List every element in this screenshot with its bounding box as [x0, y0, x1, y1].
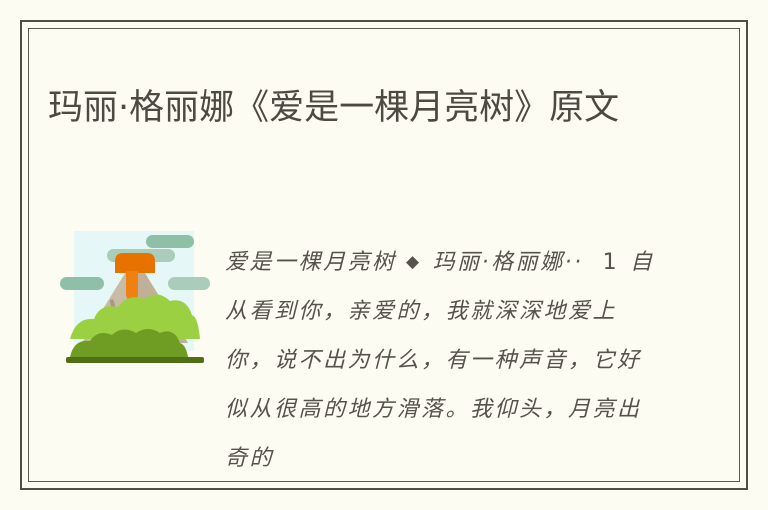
article-card: 爱是一棵月亮树 ◆ 玛丽·格丽娜·· 1 自从看到你，亲爱的，我就深深地爱上你，…	[29, 192, 739, 481]
volcano-illustration-icon	[60, 221, 210, 371]
article-author: 玛丽·格丽娜	[433, 250, 565, 275]
page-content: 玛丽·格丽娜《爱是一棵月亮树》原文	[29, 29, 739, 481]
diamond-separator-icon: ◆	[406, 252, 423, 272]
article-heading: 爱是一棵月亮树	[225, 250, 397, 275]
article-excerpt: 爱是一棵月亮树 ◆ 玛丽·格丽娜·· 1 自从看到你，亲爱的，我就深深地爱上你，…	[225, 238, 665, 481]
page-title: 玛丽·格丽娜《爱是一棵月亮树》原文	[48, 81, 648, 135]
article-section-number: 1	[603, 250, 621, 275]
article-body: 自从看到你，亲爱的，我就深深地爱上你，说不出为什么，有一种声音，它好似从很高的地…	[225, 250, 655, 471]
page-root: 玛丽·格丽娜《爱是一棵月亮树》原文	[0, 0, 768, 510]
article-author-tail: ··	[565, 250, 584, 275]
